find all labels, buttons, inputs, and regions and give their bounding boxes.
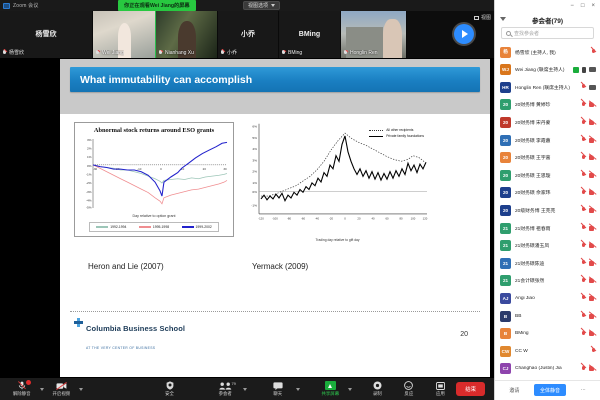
start-video-button[interactable]: 开启视频 xyxy=(46,378,78,400)
video-tile-2[interactable]: Nianhang Xu xyxy=(156,11,218,58)
slide-title: What immutability can accomplish xyxy=(70,67,480,92)
mic-muted-icon[interactable] xyxy=(581,207,586,213)
apps-button[interactable]: 应用 xyxy=(425,378,457,400)
mic-muted-icon xyxy=(2,50,7,56)
mic-muted-icon xyxy=(95,50,100,56)
camera-off-icon[interactable] xyxy=(589,208,596,213)
participant-name: 21会计硕张然 xyxy=(515,277,577,284)
participant-name: CC W xyxy=(515,349,587,354)
participant-row[interactable]: CChe xyxy=(495,378,600,380)
avatar: 20 xyxy=(500,135,511,146)
participant-row[interactable]: 2020财务硕 李霞蕙 xyxy=(495,131,600,149)
participant-row[interactable]: CWCC W xyxy=(495,342,600,360)
mic-alert-badge xyxy=(26,380,31,385)
view-badge-label: 视图 xyxy=(481,14,491,21)
participant-status-icons xyxy=(581,172,596,178)
svg-text:2%: 2% xyxy=(252,170,257,174)
participant-name: Honglin Ren (联席主持人) xyxy=(515,84,577,91)
participant-name: BB xyxy=(515,314,577,319)
mic-muted-icon[interactable] xyxy=(581,278,586,284)
grid-icon xyxy=(474,16,479,20)
video-tile-name: 小乔 xyxy=(227,49,237,56)
avatar: HR xyxy=(500,82,511,93)
participant-row[interactable]: 2121财务硕潘玉凤 xyxy=(495,237,600,255)
svg-text:60: 60 xyxy=(385,217,389,221)
svg-text:-5%: -5% xyxy=(86,206,92,210)
participant-row[interactable]: 2020财务博 宋丹蒙 xyxy=(495,114,600,132)
participant-name: 20财务博 黄婷珍 xyxy=(515,101,577,108)
svg-text:-60: -60 xyxy=(301,217,306,221)
participant-status-icons xyxy=(581,102,596,108)
participant-name: Changhao (Justin) Jia xyxy=(515,366,577,371)
participant-name: Wei Jiang (联席主持人) xyxy=(515,66,569,73)
svg-text:-2%: -2% xyxy=(86,181,92,185)
participants-panel: − □ × 参会者(79) 查找参会者 杨杨雪欣 (主持人, 我)WJWei J… xyxy=(494,0,600,400)
screen-share-banner: 你正在观看Wei Jiang的屏幕 xyxy=(118,0,196,11)
participant-name: 20级财务博 王芫芫 xyxy=(515,207,577,214)
participant-row[interactable]: 2020财务硕 王宇嘉 xyxy=(495,149,600,167)
search-placeholder: 查找参会者 xyxy=(514,30,539,37)
chat-icon xyxy=(273,381,283,390)
presentation-slide: What immutability can accomplish Abnorma… xyxy=(60,59,490,377)
camera-on-icon[interactable] xyxy=(589,85,596,90)
participant-status-icons xyxy=(591,49,596,55)
search-container: 查找参会者 xyxy=(495,27,600,43)
participant-row[interactable]: WJWei Jiang (联席主持人) xyxy=(495,61,600,79)
participant-row[interactable]: AJAngi Jiao xyxy=(495,290,600,308)
participant-row[interactable]: 2020财务博 黄婷珍 xyxy=(495,96,600,114)
panel-window-controls: − □ × xyxy=(495,0,600,12)
avatar: WJ xyxy=(500,64,511,75)
chart-legend-left: 1992-1994 1995-1998 1999-2002 xyxy=(89,222,219,232)
participants-count: 79 xyxy=(231,381,235,386)
legend-label: 1992-1994 xyxy=(110,225,126,229)
participant-name: 21财务硕陈迪 xyxy=(515,260,577,267)
participant-row[interactable]: 2020级财务博 王芫芫 xyxy=(495,202,600,220)
participant-name: 20财务硕 佘家玮 xyxy=(515,189,577,196)
mic-muted-icon[interactable] xyxy=(581,366,586,372)
unmute-label: 解除静音 xyxy=(13,391,31,397)
video-tile-3[interactable]: 小乔 小乔 xyxy=(218,11,279,58)
video-person-shape xyxy=(383,19,403,58)
chart-yermack: 6%5%4% 3%2%1% 0%-1% -120-100-80 -60-40-2… xyxy=(245,120,430,242)
participant-name: 杨雪欣 (主持人, 我) xyxy=(515,49,587,56)
mic-muted-icon xyxy=(220,50,225,56)
unmute-button[interactable]: 解除静音 xyxy=(6,378,38,400)
participant-row[interactable]: 2020财务硕 王思璇 xyxy=(495,166,600,184)
video-tile-5[interactable]: Honglin Ren xyxy=(341,11,407,58)
apps-label: 应用 xyxy=(436,391,445,397)
avatar: 21 xyxy=(500,275,511,286)
camera-on-icon[interactable] xyxy=(589,67,596,72)
logo-title: Columbia Business School xyxy=(86,324,185,333)
maximize-icon[interactable]: □ xyxy=(581,3,585,9)
svg-text:120: 120 xyxy=(423,217,428,221)
security-button[interactable]: 安全 xyxy=(154,378,186,400)
svg-text:20: 20 xyxy=(203,167,207,171)
end-meeting-button[interactable]: 结束 xyxy=(456,382,485,396)
participant-status-icons xyxy=(581,295,596,301)
participant-name: 20财务博 宋丹蒙 xyxy=(515,119,577,126)
svg-text:100: 100 xyxy=(411,217,416,221)
svg-text:20: 20 xyxy=(357,217,361,221)
crown-logo-icon xyxy=(74,318,83,327)
video-tile-name: 杨雪欣 xyxy=(9,49,24,56)
chart-xlabel-right: Trading day relative to gift day xyxy=(245,238,430,242)
svg-text:0%: 0% xyxy=(87,164,92,168)
camera-off-icon[interactable] xyxy=(589,278,596,283)
video-tile-center-name: 小乔 xyxy=(218,29,278,39)
legend-item-2: 1999-2002 xyxy=(182,225,212,229)
avatar: 杨 xyxy=(500,47,511,58)
avatar: 20 xyxy=(500,117,511,128)
participant-status-icons xyxy=(581,137,596,143)
panel-title: 参会者(79) xyxy=(532,15,563,25)
participant-name: 20财务硕 王宇嘉 xyxy=(515,154,577,161)
video-tile-namebar: Wei Jiang xyxy=(95,50,124,56)
video-tile-namebar: BMing xyxy=(281,50,302,56)
svg-text:-40: -40 xyxy=(315,217,320,221)
legend-item-0: 1992-1994 xyxy=(96,225,126,229)
video-tile-center-name: 杨雪欣 xyxy=(0,29,92,39)
participant-row[interactable]: CJChanghao (Justin) Jia xyxy=(495,360,600,378)
participant-row[interactable]: 2020财务硕 佘家玮 xyxy=(495,184,600,202)
camera-off-icon[interactable] xyxy=(589,190,596,195)
participant-name: 21财务硕潘玉凤 xyxy=(515,242,577,249)
svg-text:1%: 1% xyxy=(252,181,257,185)
participant-status-icons xyxy=(581,155,596,161)
camera-off-icon[interactable] xyxy=(589,102,596,107)
participants-label: 参会者 xyxy=(219,391,232,397)
camera-off-icon[interactable] xyxy=(589,314,596,319)
video-filmstrip: 杨雪欣 杨雪欣 Wei Jiang Nianhang Xu xyxy=(0,11,494,58)
chevron-down-icon xyxy=(271,4,275,7)
logo-tagline: AT THE VERY CENTER OF BUSINESS xyxy=(86,346,155,350)
search-input[interactable]: 查找参会者 xyxy=(501,27,594,39)
participant-status-icons xyxy=(591,348,596,354)
security-label: 安全 xyxy=(165,391,174,397)
participant-status-icons xyxy=(581,120,596,126)
avatar: 20 xyxy=(500,187,511,198)
video-tile-namebar: 小乔 xyxy=(220,49,237,56)
shared-screen-stage[interactable]: What immutability can accomplish Abnorma… xyxy=(0,58,494,378)
chart-title-left: Abnormal stock returns around ESO grants xyxy=(75,127,233,134)
svg-text:-20: -20 xyxy=(329,217,334,221)
camera-off-icon[interactable] xyxy=(589,366,596,371)
legend-item-1: Private family foundations xyxy=(369,134,424,138)
video-tile-1[interactable]: Wei Jiang xyxy=(93,11,156,58)
svg-text:-120: -120 xyxy=(258,217,264,221)
participants-icon xyxy=(219,381,232,390)
mic-muted-icon xyxy=(281,50,286,56)
legend-item-1: 1995-1998 xyxy=(139,225,169,229)
zoom-logo-icon xyxy=(3,3,10,9)
chat-button[interactable]: 聊天 xyxy=(262,378,294,400)
avatar: 21 xyxy=(500,258,511,269)
legend-label: Private family foundations xyxy=(386,134,424,138)
mic-muted-icon[interactable] xyxy=(581,225,586,231)
sharing-screen-icon xyxy=(573,67,579,73)
mic-options-chevron-icon[interactable] xyxy=(40,388,44,391)
participant-status-icons xyxy=(581,278,596,284)
participant-name: 21财务博 祖春雨 xyxy=(515,225,577,232)
caption-left: Heron and Lie (2007) xyxy=(88,262,164,271)
chart-plot-left: 3%2% 1%0% -1%-2% -3%-4% -5% -30-20-10 01… xyxy=(93,139,227,208)
minimize-icon[interactable]: − xyxy=(570,3,574,9)
svg-text:-3%: -3% xyxy=(86,190,92,194)
caption-right: Yermack (2009) xyxy=(252,262,308,271)
video-tile-name: Wei Jiang xyxy=(102,50,124,56)
share-options-chevron-icon[interactable] xyxy=(348,388,352,391)
svg-text:-80: -80 xyxy=(287,217,292,221)
camera-off-icon[interactable] xyxy=(589,296,596,301)
slide-body: Abnormal stock returns around ESO grants… xyxy=(60,114,490,344)
svg-text:5%: 5% xyxy=(252,136,257,140)
avatar: 20 xyxy=(500,99,511,110)
meeting-toolbar: 解除静音 开启视频 xyxy=(0,378,494,400)
view-options-label: 视图选项 xyxy=(248,2,268,9)
svg-text:3%: 3% xyxy=(252,158,257,162)
avatar: AJ xyxy=(500,293,511,304)
mic-muted-icon[interactable] xyxy=(581,331,586,337)
panel-header: 参会者(79) xyxy=(495,12,600,27)
svg-text:4%: 4% xyxy=(252,147,257,151)
participant-name: BMing xyxy=(515,331,577,336)
mic-muted-icon[interactable] xyxy=(581,295,586,301)
avatar: CJ xyxy=(500,363,511,374)
mic-muted-icon[interactable] xyxy=(581,137,586,143)
participant-status-icons xyxy=(581,366,596,372)
svg-text:40: 40 xyxy=(371,217,375,221)
participants-list[interactable]: 杨杨雪欣 (主持人, 我)WJWei Jiang (联席主持人)HRHongli… xyxy=(495,43,600,380)
mic-muted-icon[interactable] xyxy=(581,313,586,319)
camera-off-icon[interactable] xyxy=(589,138,596,143)
apps-icon xyxy=(436,381,445,390)
shield-icon xyxy=(166,381,174,390)
chat-options-chevron-icon[interactable] xyxy=(296,388,300,391)
search-icon xyxy=(506,31,511,36)
chevron-down-icon[interactable] xyxy=(500,17,506,21)
start-video-label: 开启视频 xyxy=(53,391,71,397)
chart-svg-left: 3%2% 1%0% -1%-2% -3%-4% -5% -30-20-10 01… xyxy=(93,139,227,208)
share-screen-icon xyxy=(325,381,336,390)
window-titlebar: Zoom 会议 你正在观看Wei Jiang的屏幕 视图选项 xyxy=(0,0,494,11)
chart-xlabel-left: Day relative to option grant xyxy=(75,214,233,218)
record-label: 录制 xyxy=(373,391,382,397)
participant-status-icons xyxy=(581,331,596,337)
participant-status-icons xyxy=(581,190,596,196)
video-tile-namebar: Nianhang Xu xyxy=(158,50,194,56)
mic-muted-icon xyxy=(158,50,163,56)
legend-label: 1999-2002 xyxy=(196,225,212,229)
record-icon xyxy=(373,381,382,390)
host-badge-icon xyxy=(582,67,586,73)
mic-off-icon xyxy=(18,381,26,390)
participant-status-icons xyxy=(573,67,596,73)
svg-text:0: 0 xyxy=(160,167,162,171)
svg-text:2%: 2% xyxy=(87,147,92,151)
svg-text:-1%: -1% xyxy=(251,203,257,207)
mic-muted-icon[interactable] xyxy=(581,260,586,266)
participant-name: 20财务硕 李霞蕙 xyxy=(515,137,577,144)
camera-off-icon[interactable] xyxy=(589,226,596,231)
participant-status-icons xyxy=(581,260,596,266)
share-screen-label: 共享屏幕 xyxy=(322,391,340,397)
participant-row[interactable]: 杨杨雪欣 (主持人, 我) xyxy=(495,43,600,61)
svg-text:-100: -100 xyxy=(272,217,278,221)
footer-divider xyxy=(70,311,480,312)
view-badge: 视图 xyxy=(474,14,491,21)
participant-status-icons xyxy=(581,313,596,319)
camera-off-icon[interactable] xyxy=(589,331,596,336)
reactions-button[interactable]: 反应 xyxy=(393,378,425,400)
video-tile-namebar: Honglin Ren xyxy=(343,50,378,56)
participant-row[interactable]: 2121财务博 祖春雨 xyxy=(495,219,600,237)
app-title: Zoom 会议 xyxy=(13,2,39,9)
avatar: B xyxy=(500,328,511,339)
video-tile-name: BMing xyxy=(288,50,302,56)
record-button[interactable]: 录制 xyxy=(362,378,394,400)
mic-muted-icon[interactable] xyxy=(591,348,596,354)
avatar: 20 xyxy=(500,170,511,181)
chart-legend-right: All other recipients Private family foun… xyxy=(369,128,424,140)
svg-text:-1%: -1% xyxy=(86,173,92,177)
mute-all-button[interactable]: 全体静音 xyxy=(534,384,566,396)
video-tile-namebar: 杨雪欣 xyxy=(2,49,24,56)
invite-button[interactable]: 邀请 xyxy=(503,384,525,396)
svg-text:-30: -30 xyxy=(93,167,98,171)
chart-heron-lie: Abnormal stock returns around ESO grants… xyxy=(74,122,234,237)
mic-muted-icon[interactable] xyxy=(581,243,586,249)
video-tile-0[interactable]: 杨雪欣 杨雪欣 xyxy=(0,11,93,58)
camera-off-icon[interactable] xyxy=(589,173,596,178)
mic-muted-icon xyxy=(343,50,348,56)
avatar: 20 xyxy=(500,205,511,216)
participant-row[interactable]: BBMing xyxy=(495,325,600,343)
columbia-logo: Columbia Business School AT THE VERY CEN… xyxy=(74,318,185,354)
share-screen-button[interactable]: 共享屏幕 xyxy=(315,378,347,400)
mic-muted-icon[interactable] xyxy=(581,84,586,90)
avatar: B xyxy=(500,311,511,322)
slide-page-number: 20 xyxy=(460,331,468,338)
avatar: 21 xyxy=(500,223,511,234)
mic-muted-icon[interactable] xyxy=(581,172,586,178)
legend-label: 1995-1998 xyxy=(153,225,169,229)
video-options-chevron-icon[interactable] xyxy=(79,388,83,391)
legend-label: All other recipients xyxy=(386,128,413,132)
close-icon[interactable]: × xyxy=(591,3,595,9)
participant-name: 20财务硕 王思璇 xyxy=(515,172,577,179)
avatar: 21 xyxy=(500,240,511,251)
svg-text:-4%: -4% xyxy=(86,199,92,203)
meeting-area: Zoom 会议 你正在观看Wei Jiang的屏幕 视图选项 杨雪欣 杨雪欣 W xyxy=(0,0,494,400)
camera-off-icon[interactable] xyxy=(589,155,596,160)
participants-button[interactable]: 79 参会者 xyxy=(209,378,241,400)
slide-footer: Columbia Business School AT THE VERY CEN… xyxy=(60,311,490,344)
participant-status-icons xyxy=(581,243,596,249)
reactions-icon xyxy=(404,381,413,390)
svg-text:0: 0 xyxy=(344,217,346,221)
camera-off-icon[interactable] xyxy=(589,261,596,266)
view-options-button[interactable]: 视图选项 xyxy=(243,1,280,10)
svg-text:80: 80 xyxy=(399,217,403,221)
svg-text:0%: 0% xyxy=(252,190,257,194)
participant-status-icons xyxy=(581,225,596,231)
camera-off-icon xyxy=(56,381,67,390)
avatar: 20 xyxy=(500,152,511,163)
svg-text:30: 30 xyxy=(223,167,227,171)
svg-text:1%: 1% xyxy=(87,155,92,159)
mic-muted-icon[interactable] xyxy=(581,120,586,126)
chat-label: 聊天 xyxy=(273,391,282,397)
video-tile-4[interactable]: BMing BMing xyxy=(279,11,341,58)
participant-status-icons xyxy=(581,207,596,213)
video-tile-center-name: BMing xyxy=(279,30,340,37)
chevron-right-icon xyxy=(462,30,468,38)
zoom-meeting-window: Zoom 会议 你正在观看Wei Jiang的屏幕 视图选项 杨雪欣 杨雪欣 W xyxy=(0,0,600,400)
svg-text:3%: 3% xyxy=(87,138,92,142)
participant-row[interactable]: 2121会计硕张然 xyxy=(495,272,600,290)
filmstrip-next-button[interactable] xyxy=(454,24,474,44)
camera-off-icon[interactable] xyxy=(589,120,596,125)
svg-text:6%: 6% xyxy=(252,125,257,129)
video-tile-name: Honglin Ren xyxy=(350,50,378,56)
mic-muted-icon[interactable] xyxy=(591,49,596,55)
more-options-button[interactable]: ··· xyxy=(575,385,592,396)
mic-muted-icon[interactable] xyxy=(581,190,586,196)
participant-row[interactable]: BBB xyxy=(495,307,600,325)
participant-row[interactable]: 2121财务硕陈迪 xyxy=(495,254,600,272)
mic-muted-icon[interactable] xyxy=(581,155,586,161)
participants-options-chevron-icon[interactable] xyxy=(243,388,247,391)
reactions-label: 反应 xyxy=(404,391,413,397)
participant-status-icons xyxy=(581,84,596,90)
legend-item-0: All other recipients xyxy=(369,128,424,132)
avatar: CW xyxy=(500,346,511,357)
slide-header: What immutability can accomplish xyxy=(60,59,490,114)
camera-off-icon[interactable] xyxy=(589,243,596,248)
video-tile-name: Nianhang Xu xyxy=(165,50,194,56)
participant-row[interactable]: HRHonglin Ren (联席主持人) xyxy=(495,79,600,97)
mic-muted-icon[interactable] xyxy=(581,102,586,108)
participant-name: Angi Jiao xyxy=(515,296,577,301)
panel-footer: 邀请 全体静音 ··· xyxy=(495,380,600,400)
